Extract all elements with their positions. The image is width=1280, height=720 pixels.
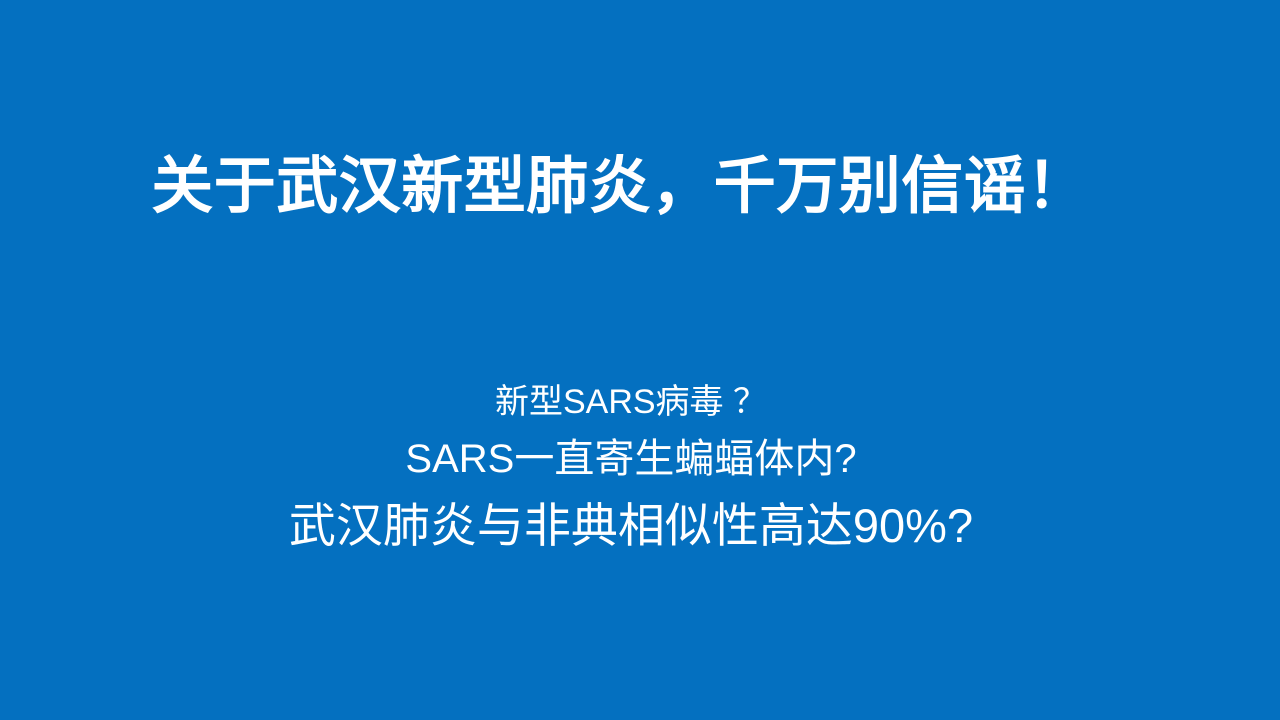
subtitle-line-1: 新型SARS病毒 ？ xyxy=(0,376,1262,428)
subtitle-block: 新型SARS病毒 ？ SARS一直寄生蝙蝠体内? 武汉肺炎与非典相似性高达90%… xyxy=(0,376,1262,562)
page-title: 关于武汉新型肺炎，千万别信谣！ xyxy=(0,148,1240,226)
subtitle-line-3: 武汉肺炎与非典相似性高达90%? xyxy=(0,490,1262,562)
slide-canvas: 关于武汉新型肺炎，千万别信谣！ 新型SARS病毒 ？ SARS一直寄生蝙蝠体内?… xyxy=(0,0,1280,720)
subtitle-line-2: SARS一直寄生蝙蝠体内? xyxy=(0,428,1262,490)
title-block: 关于武汉新型肺炎，千万别信谣！ xyxy=(0,148,1240,226)
